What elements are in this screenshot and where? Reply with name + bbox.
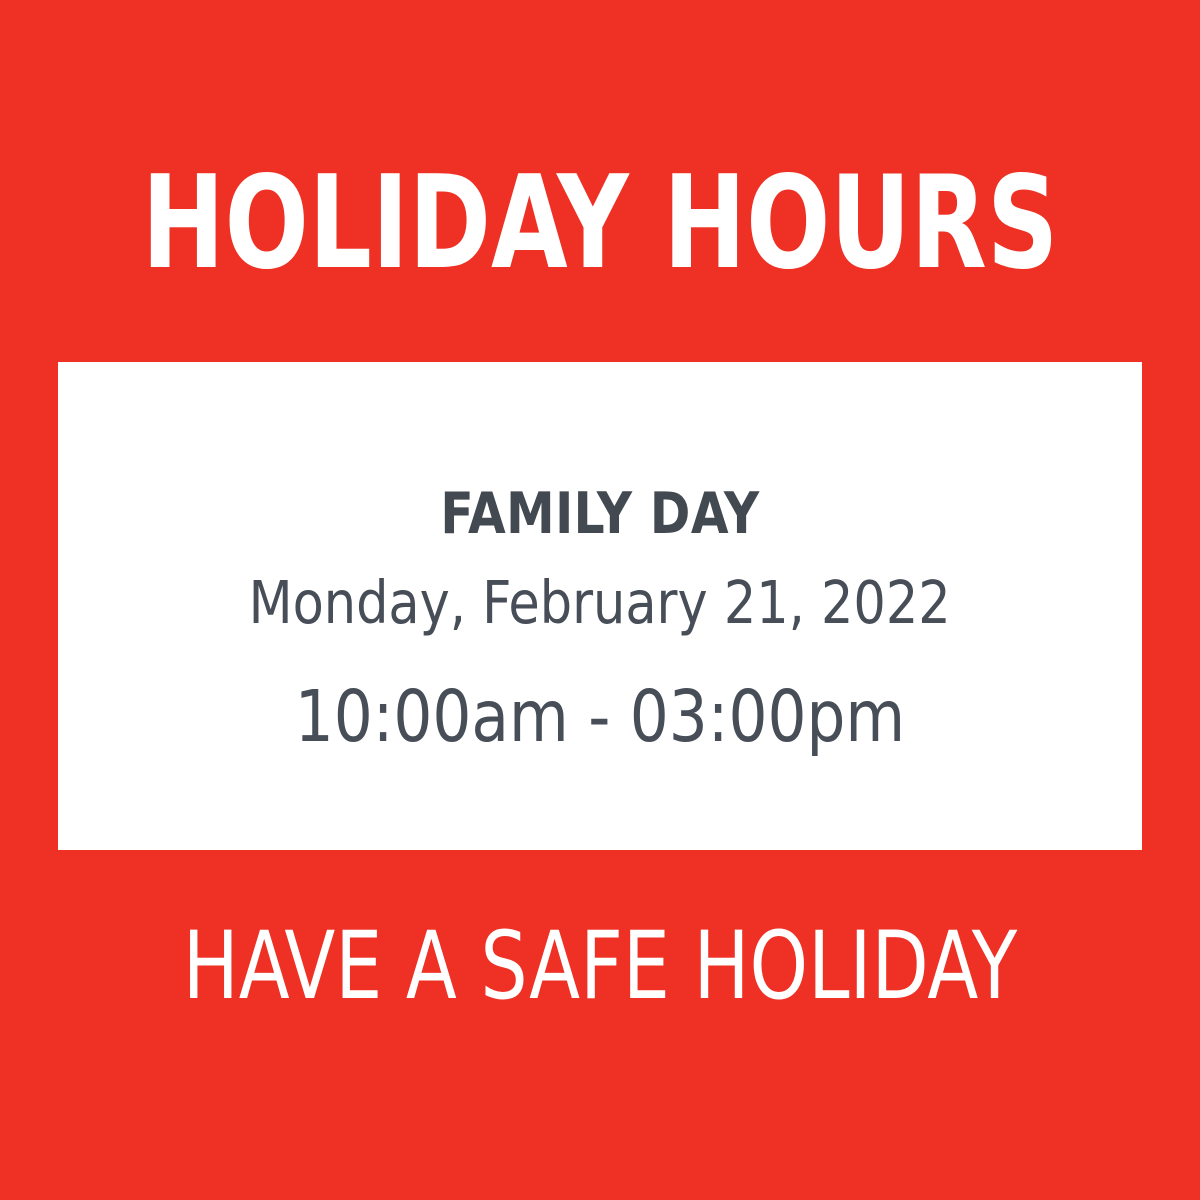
holiday-hours-poster: HOLIDAY HOURS FAMILY DAY Monday, Februar… [0,0,1200,1200]
holiday-name: FAMILY DAY [440,486,759,543]
holiday-info-card: FAMILY DAY Monday, February 21, 2022 10:… [58,362,1142,850]
footer-message: HAVE A SAFE HOLIDAY [72,920,1128,1014]
page-title: HOLIDAY HOURS [84,160,1116,288]
holiday-hours-range: 10:00am - 03:00pm [295,681,905,752]
holiday-date: Monday, February 21, 2022 [249,573,951,632]
